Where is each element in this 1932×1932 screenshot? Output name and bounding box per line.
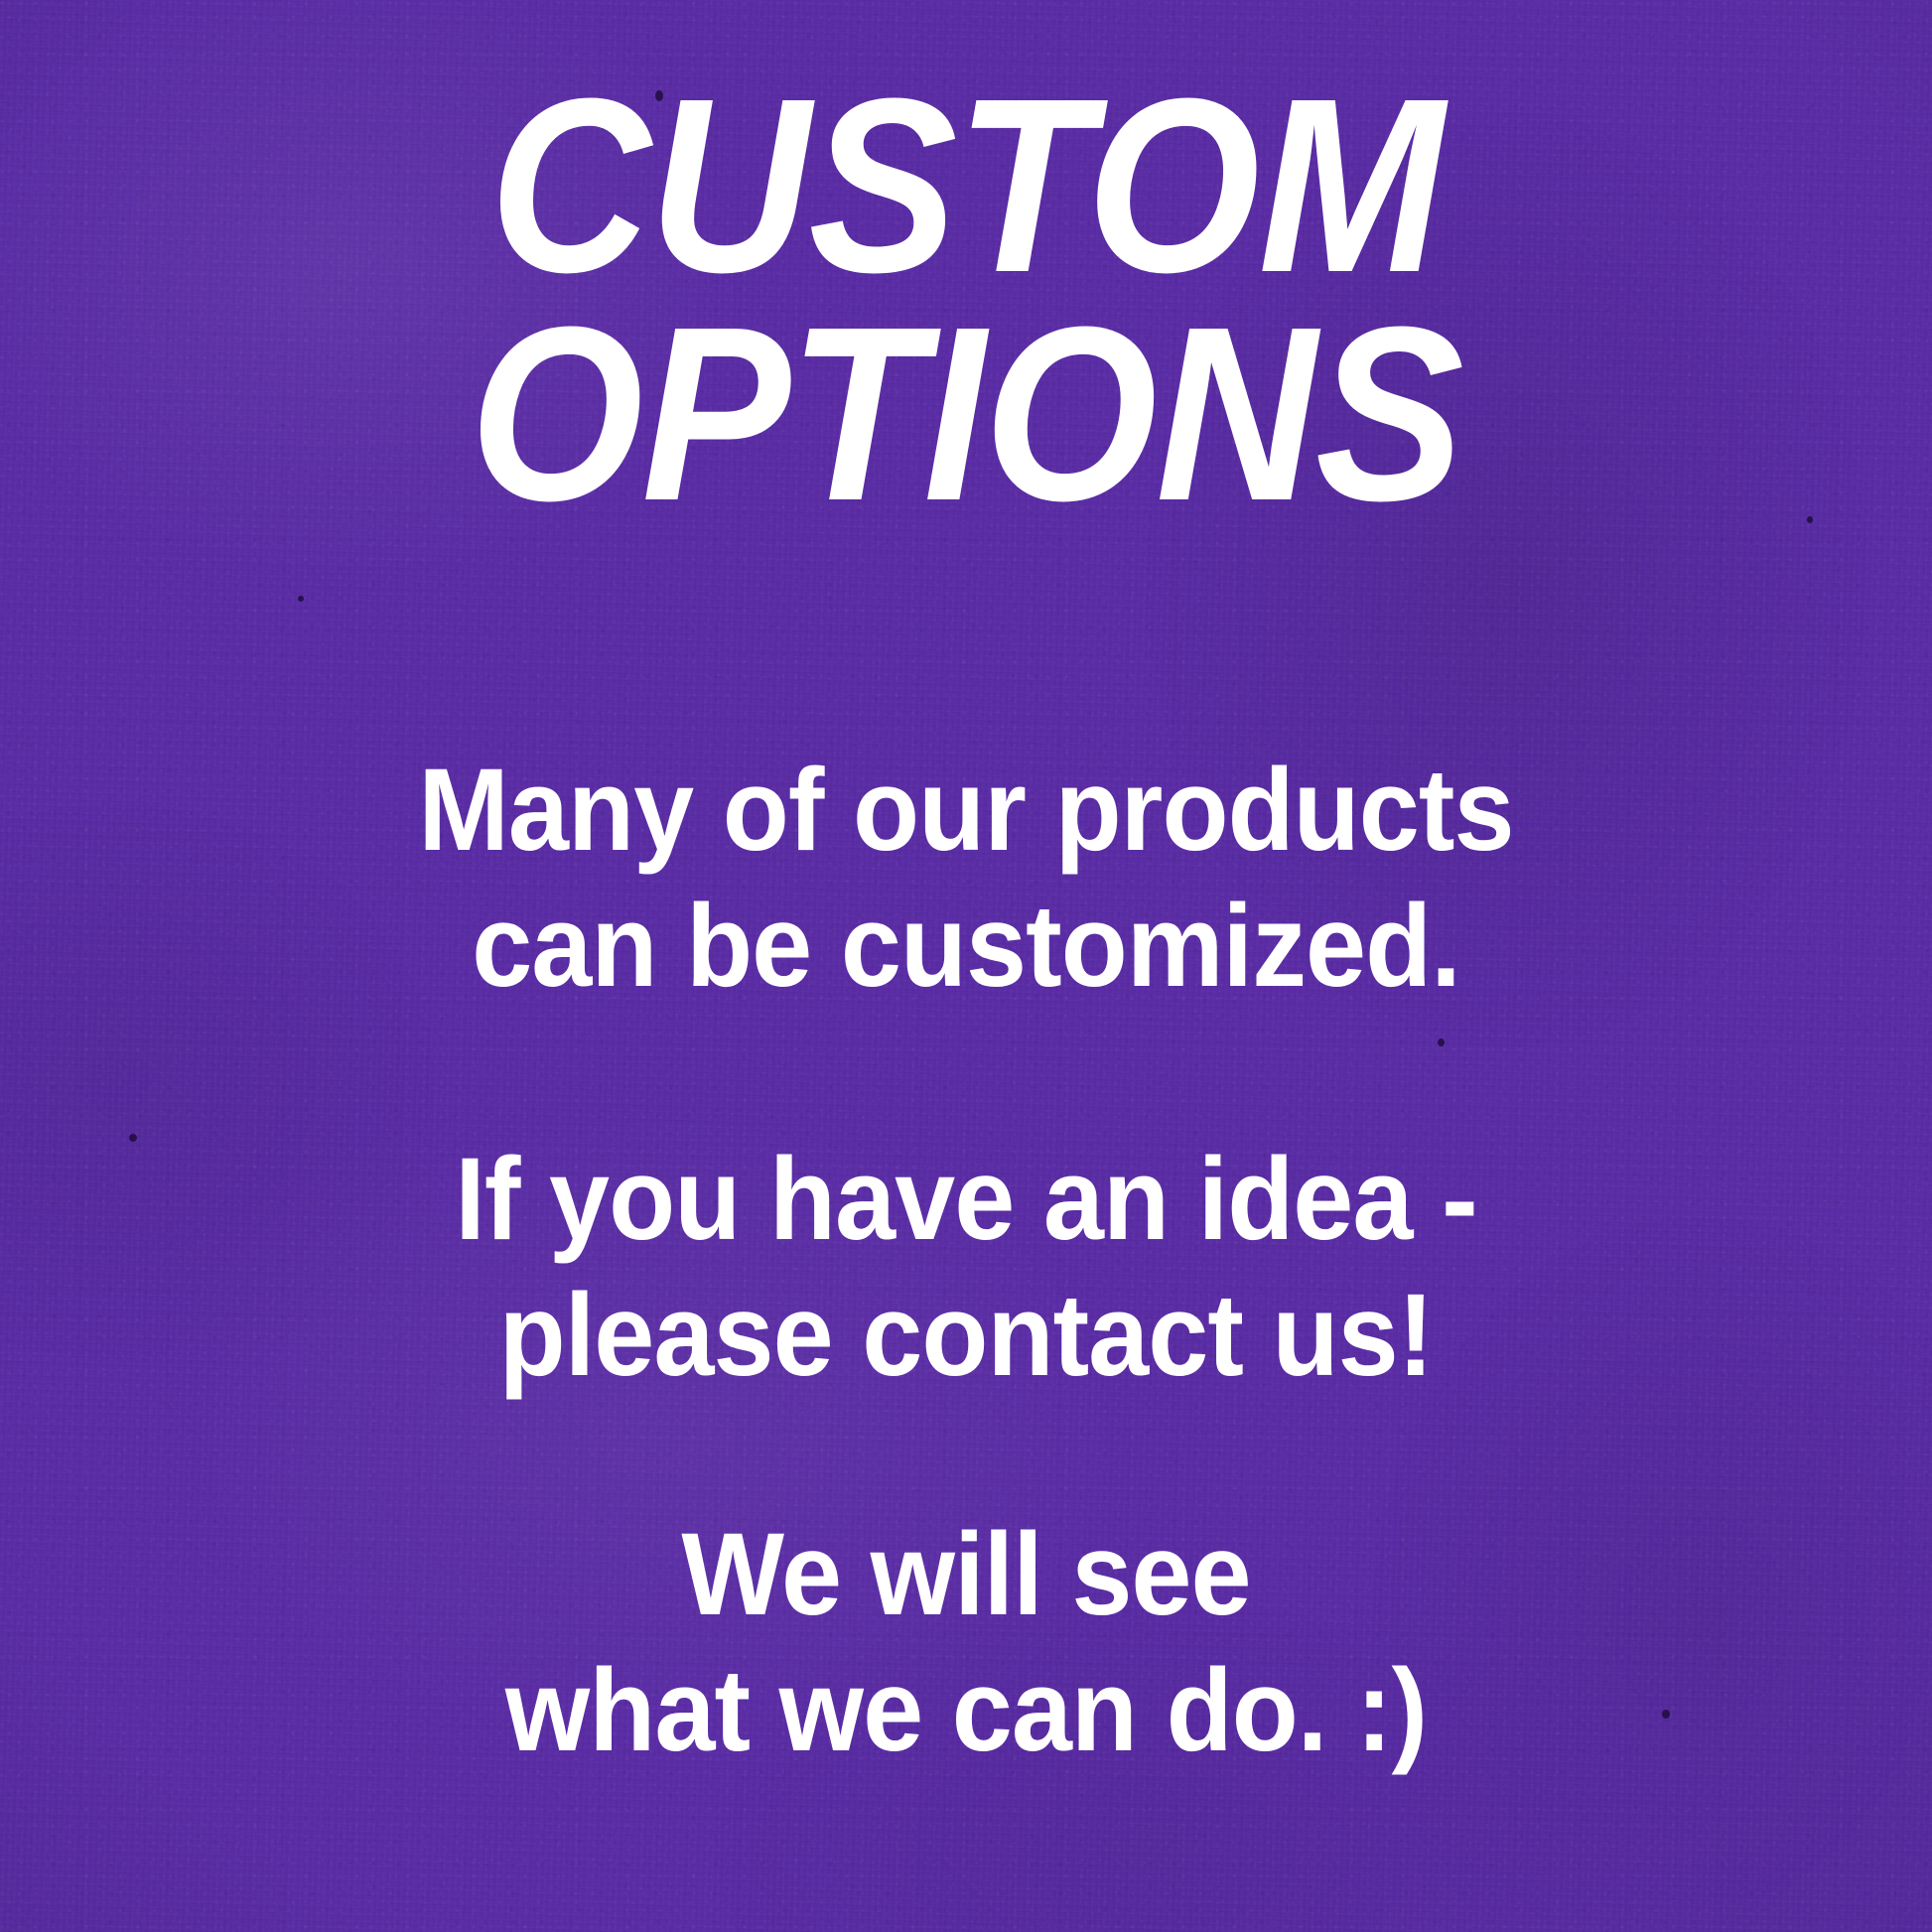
page-title-line-2: OPTIONS <box>96 300 1835 528</box>
paragraph-line: what we can do. :) <box>68 1643 1864 1779</box>
paragraph-closing-promise: We will see what we can do. :) <box>68 1507 1864 1779</box>
paragraph-products-customizable: Many of our products can be customized. <box>68 743 1864 1015</box>
paragraph-contact-invite: If you have an idea - please contact us! <box>68 1132 1864 1404</box>
paragraph-line: can be customized. <box>68 879 1864 1015</box>
poster-content: CUSTOM OPTIONS Many of our products can … <box>0 0 1932 1932</box>
page-title: CUSTOM OPTIONS <box>96 71 1835 528</box>
page-title-line-1: CUSTOM <box>96 71 1835 300</box>
custom-options-poster: CUSTOM OPTIONS Many of our products can … <box>0 0 1932 1932</box>
paragraph-line: Many of our products <box>68 743 1864 879</box>
paragraph-line: We will see <box>68 1507 1864 1643</box>
paragraph-line: If you have an idea - <box>68 1132 1864 1268</box>
paragraph-line: please contact us! <box>68 1268 1864 1404</box>
